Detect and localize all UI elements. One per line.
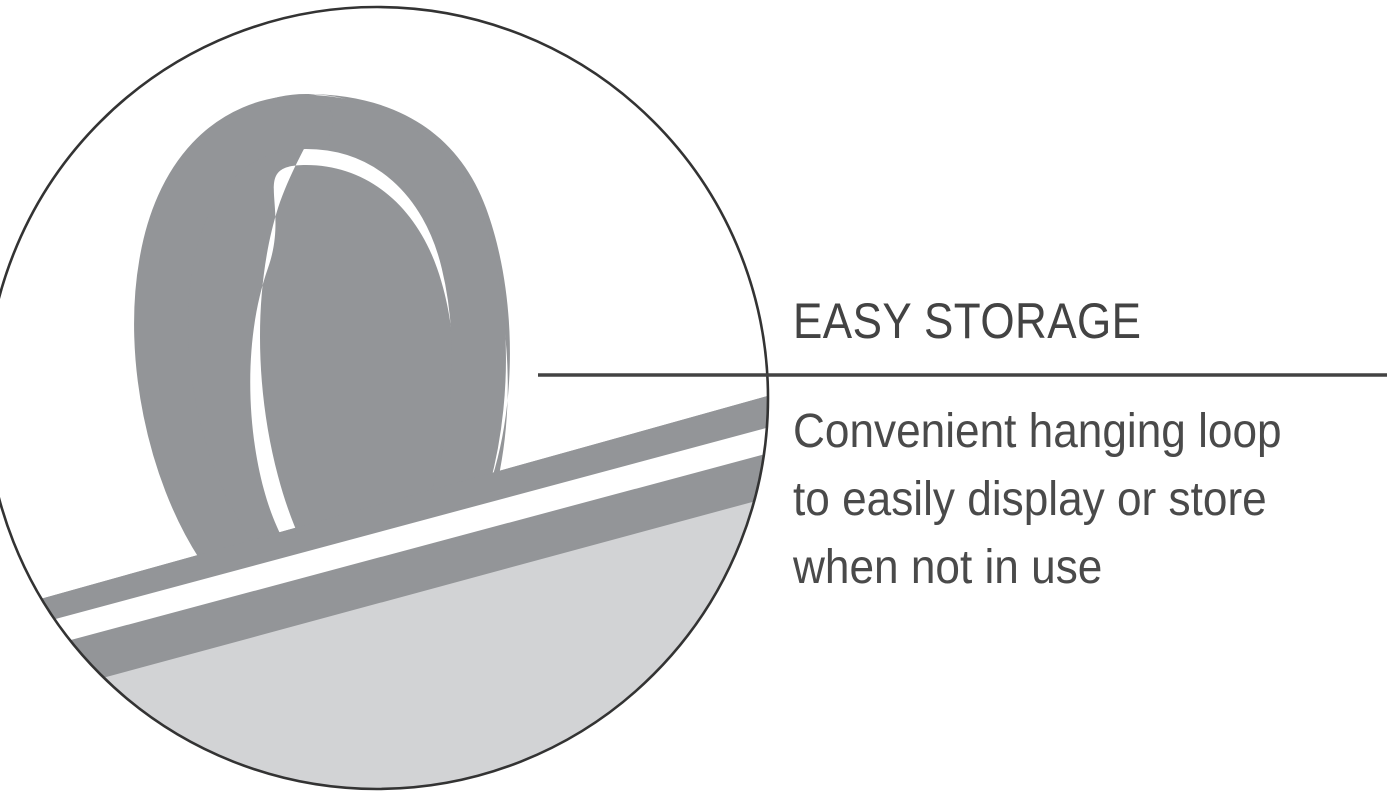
description-line-3: when not in use bbox=[793, 534, 1345, 602]
description-line-2: to easily display or store bbox=[793, 466, 1345, 534]
description-line-1: Convenient hanging loop bbox=[793, 398, 1345, 466]
feature-title-block: EASY STORAGE bbox=[793, 292, 1387, 350]
page-title: EASY STORAGE bbox=[793, 292, 1316, 350]
feature-description: Convenient hanging loop to easily displa… bbox=[793, 398, 1345, 602]
easy-storage-feature-callout: EASY STORAGE Convenient hanging loop to … bbox=[0, 0, 1387, 805]
